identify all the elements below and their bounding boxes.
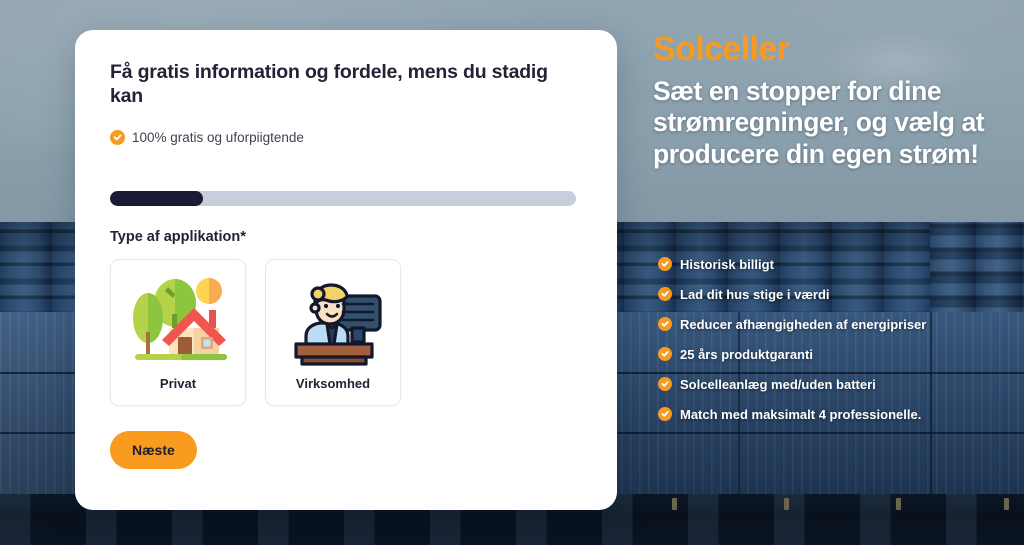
- check-circle-icon: [110, 130, 125, 145]
- required-asterisk: *: [240, 228, 246, 245]
- benefit-item: Reducer afhængigheden af energipriser: [658, 309, 1018, 339]
- landing-page: Få gratis information og fordele, mens d…: [0, 0, 1024, 545]
- check-circle-icon: [658, 407, 672, 421]
- benefit-item: 25 års produktgaranti: [658, 339, 1018, 369]
- field-label-application-type: Type af applikation*: [110, 228, 582, 245]
- field-label-text: Type af applikation: [110, 229, 240, 245]
- benefit-label: Reducer afhængigheden af energipriser: [680, 317, 926, 332]
- promo-headline: Sæt en stopper for dine strømregninger, …: [653, 76, 1013, 171]
- business-person-desk-icon: [278, 270, 388, 370]
- panel-clip: [672, 498, 677, 510]
- option-card-privat[interactable]: Privat: [110, 259, 246, 406]
- form-title: Få gratis information og fordele, mens d…: [110, 60, 582, 109]
- benefit-label: 25 års produktgaranti: [680, 347, 813, 362]
- benefit-label: Solcelleanlæg med/uden batteri: [680, 377, 876, 392]
- check-circle-icon: [658, 287, 672, 301]
- option-label-privat: Privat: [160, 376, 196, 391]
- check-circle-icon: [658, 317, 672, 331]
- benefit-label: Match med maksimalt 4 professionelle.: [680, 407, 921, 422]
- form-progress-bar: [110, 191, 576, 206]
- promo-block: Solceller Sæt en stopper for dine strømr…: [653, 32, 1013, 171]
- check-circle-icon: [658, 347, 672, 361]
- benefit-item: Solcelleanlæg med/uden batteri: [658, 369, 1018, 399]
- lead-form-card: Få gratis information og fordele, mens d…: [75, 30, 617, 510]
- option-label-virksomhed: Virksomhed: [296, 376, 370, 391]
- benefit-item: Historisk billigt: [658, 249, 1018, 279]
- next-button[interactable]: Næste: [110, 431, 197, 469]
- check-circle-icon: [658, 257, 672, 271]
- benefit-label: Historisk billigt: [680, 257, 774, 272]
- panel-clip: [1004, 498, 1009, 510]
- benefit-label: Lad dit hus stige i værdi: [680, 287, 830, 302]
- panel-clip: [896, 498, 901, 510]
- option-card-virksomhed[interactable]: Virksomhed: [265, 259, 401, 406]
- house-with-trees-icon: [123, 270, 233, 370]
- form-progress-fill: [110, 191, 203, 206]
- promo-kicker: Solceller: [653, 32, 1013, 68]
- free-notice: 100% gratis og uforpiigtende: [110, 130, 582, 145]
- check-circle-icon: [658, 377, 672, 391]
- application-type-options: Privat: [110, 259, 582, 406]
- benefit-item: Match med maksimalt 4 professionelle.: [658, 399, 1018, 429]
- benefits-list: Historisk billigtLad dit hus stige i vær…: [658, 249, 1018, 429]
- benefit-item: Lad dit hus stige i værdi: [658, 279, 1018, 309]
- panel-clip: [784, 498, 789, 510]
- free-notice-label: 100% gratis og uforpiigtende: [132, 130, 304, 145]
